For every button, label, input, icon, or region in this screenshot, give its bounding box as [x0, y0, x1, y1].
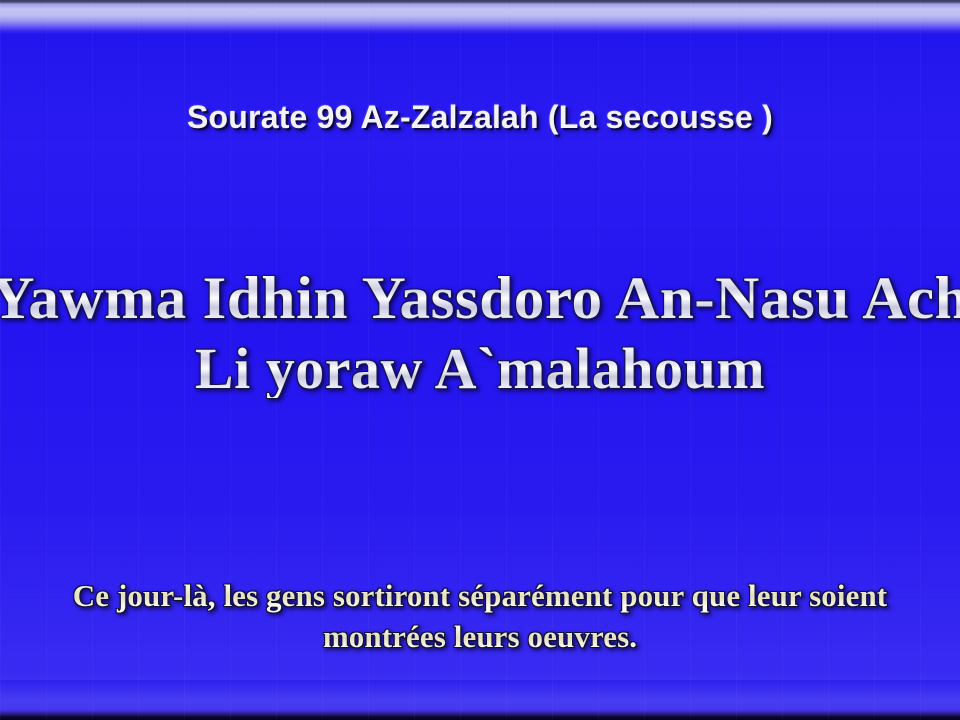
transliteration-block: Yawma Idhin Yassdoro An-Nasu Achtatan Li… — [0, 268, 960, 398]
translation-line-1: Ce jour-là, les gens sortiront séparémen… — [0, 578, 960, 614]
transliteration-line-2: Li yoraw A`malahoum — [0, 339, 960, 398]
surah-title: Sourate 99 Az-Zalzalah (La secousse ) — [187, 99, 773, 136]
video-slide-frame: Sourate 99 Az-Zalzalah (La secousse ) Ya… — [0, 0, 960, 720]
slide-content: Sourate 99 Az-Zalzalah (La secousse ) Ya… — [0, 0, 960, 720]
translation-block: Ce jour-là, les gens sortiront séparémen… — [0, 578, 960, 655]
surah-title-row: Sourate 99 Az-Zalzalah (La secousse ) — [0, 99, 960, 136]
translation-line-2: montrées leurs oeuvres. — [0, 619, 960, 655]
transliteration-line-1: Yawma Idhin Yassdoro An-Nasu Achtatan — [0, 268, 960, 329]
